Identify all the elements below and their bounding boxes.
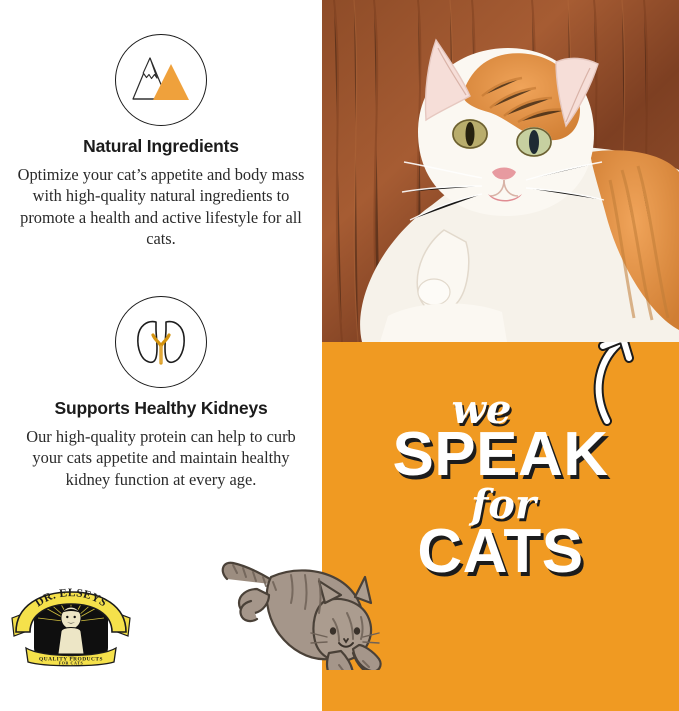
feature-natural-ingredients: Natural Ingredients Optimize your cat’s … <box>0 34 322 249</box>
feature-healthy-kidneys: Supports Healthy Kidneys Our high-qualit… <box>0 296 322 490</box>
kidneys-icon <box>115 296 207 388</box>
feature-body: Optimize your cat’s appetite and body ma… <box>0 164 322 249</box>
feature-title: Supports Healthy Kidneys <box>0 398 322 419</box>
logo-tagline-sub: FOR CATS <box>59 661 84 666</box>
slogan-line-speak: SPEAK <box>322 426 679 483</box>
mountain-icon <box>115 34 207 126</box>
feature-title: Natural Ingredients <box>0 136 322 157</box>
feature-body: Our high-quality protein can help to cur… <box>0 426 322 490</box>
cat-photo <box>322 0 679 342</box>
dr-elseys-logo: DR. ELSEYS THE QUALITY PRODUCTS FOR CATS <box>8 588 134 668</box>
leaping-tabby-cat-illustration <box>213 545 395 670</box>
